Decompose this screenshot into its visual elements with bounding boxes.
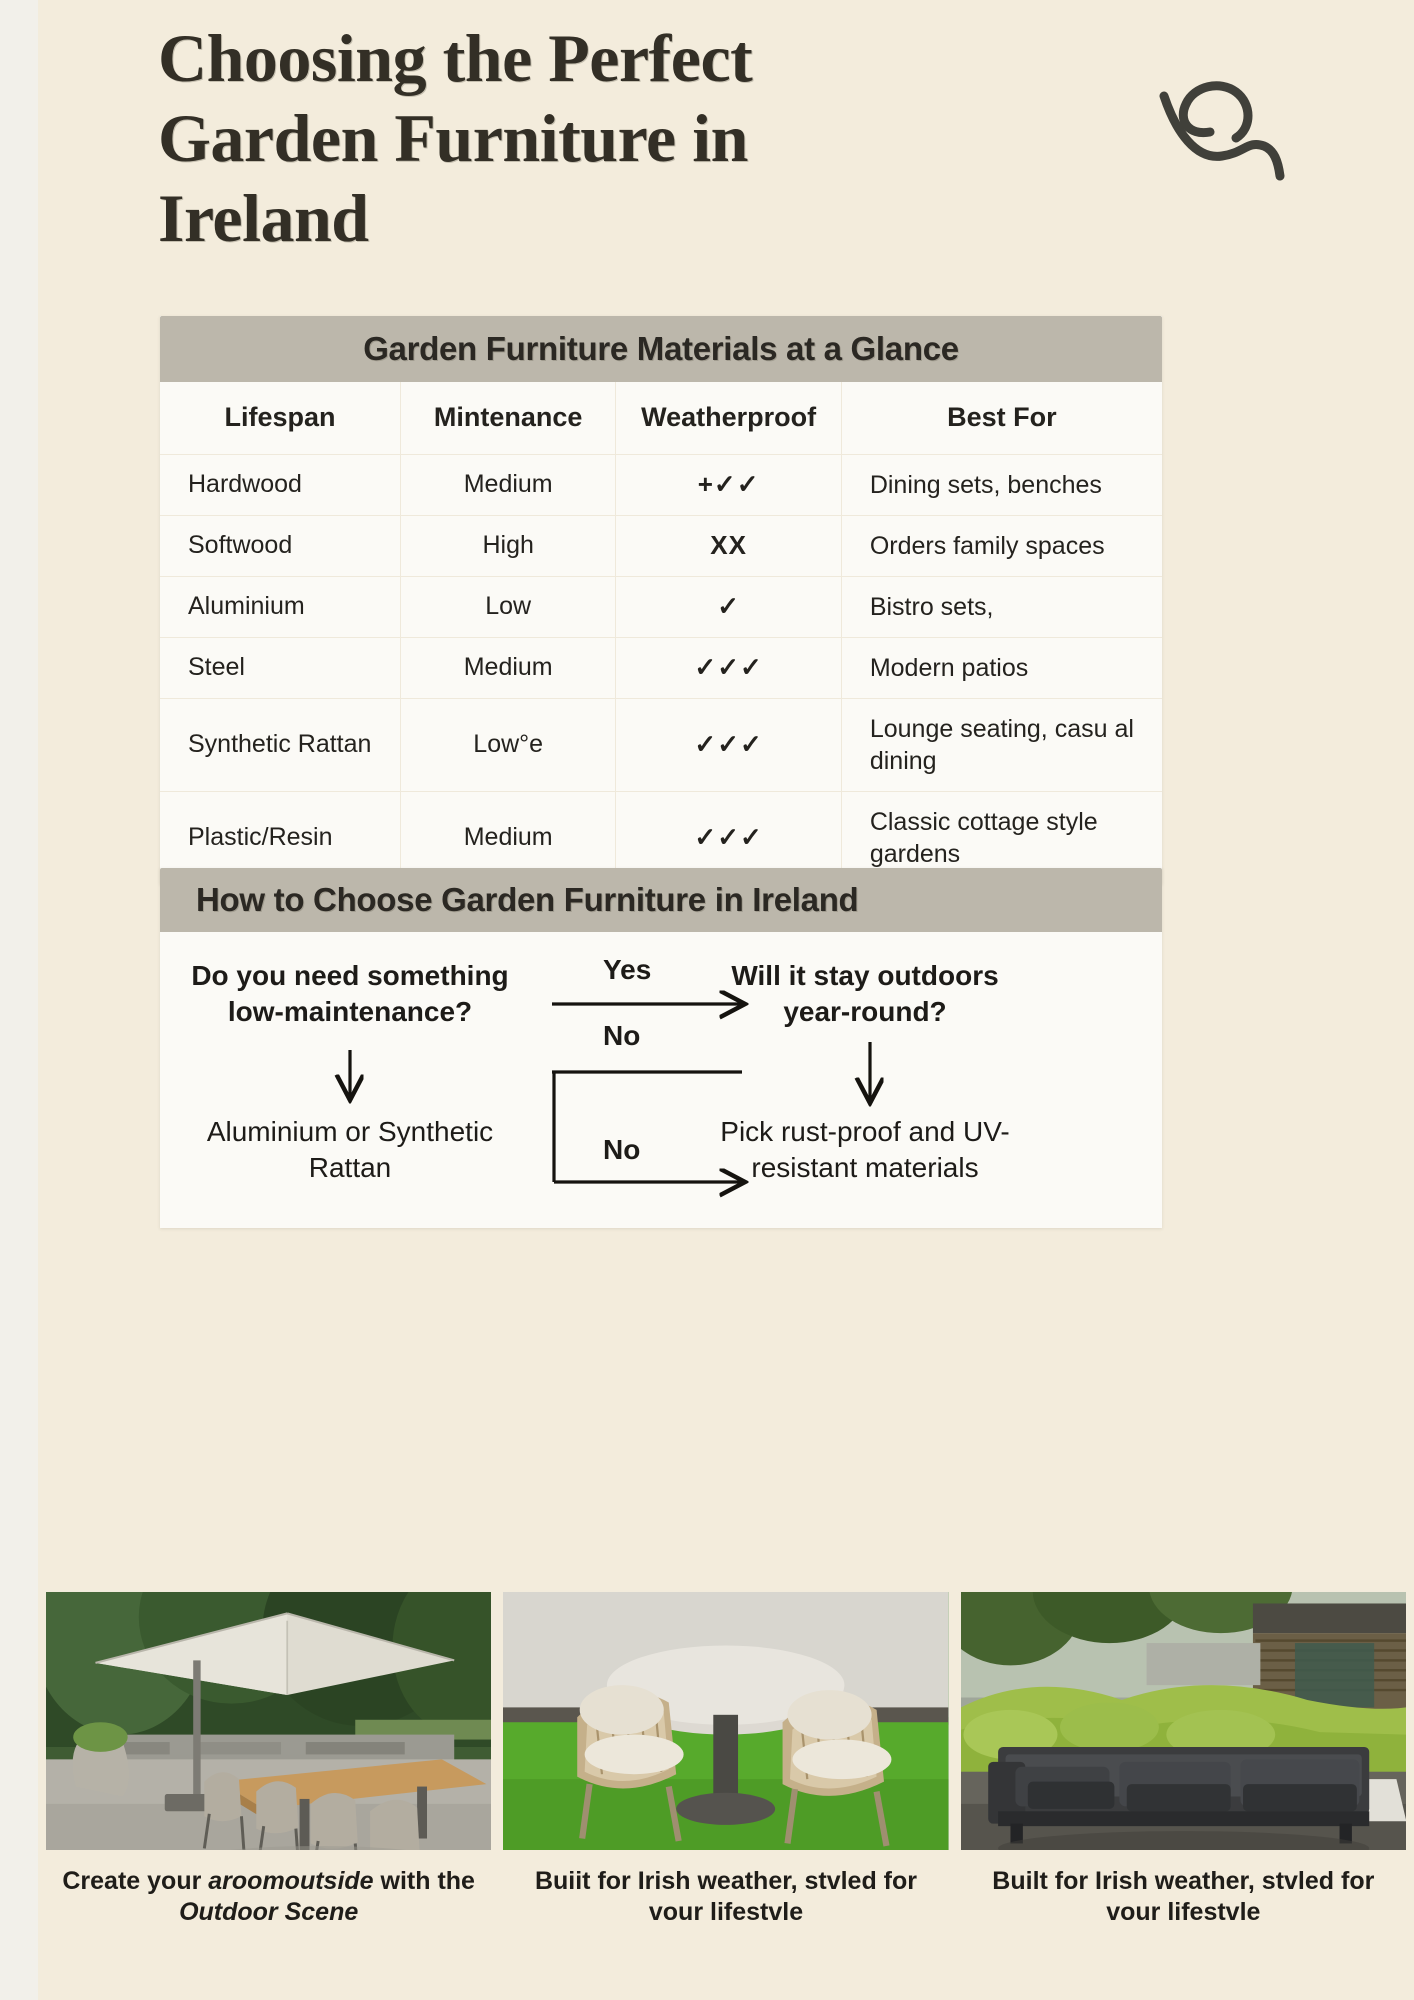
caption-em-1: aroomoutside: [208, 1867, 373, 1895]
flowchart-card: How to Choose Garden Furniture in Irelan…: [160, 868, 1162, 1228]
cell-material: Synthetic Rattan: [160, 698, 400, 791]
caption-text-2: with the: [374, 1867, 475, 1895]
flow-question-2: Will it stay outdoors year-round?: [700, 958, 1030, 1031]
caption-text-1: Create your: [62, 1867, 208, 1895]
cell-weatherproof: XX: [616, 515, 841, 576]
infographic-page: Choosing the Perfect Garden Furniture in…: [38, 0, 1414, 2000]
materials-table-heading: Garden Furniture Materials at a Glance: [160, 316, 1162, 382]
cell-maintenance: Low°e: [400, 698, 615, 791]
gallery-item: Create your aroomoutside with the Outdoo…: [46, 1592, 491, 1927]
table-row: Synthetic Rattan Low°e ✓✓✓ Lounge seatin…: [160, 698, 1162, 791]
gallery-item: Built for Irish weather, stvled for vour…: [961, 1592, 1406, 1927]
cell-weatherproof: ✓✓✓: [616, 698, 841, 791]
table-row: Steel Medium ✓✓✓ Modern patios: [160, 637, 1162, 698]
flow-outcome-2: Pick rust-proof and UV-resistant materia…: [690, 1114, 1040, 1187]
materials-table: Lifespan Mintenance Weatherproof Best Fo…: [160, 382, 1162, 884]
gallery-caption: Built for Irish weather, stvled for vour…: [961, 1866, 1406, 1927]
flowchart-body: Do you need something low-maintenance? A…: [160, 932, 1162, 1228]
header: Choosing the Perfect Garden Furniture in…: [158, 18, 1338, 259]
table-row: Hardwood Medium +✓✓ Dining sets, benches: [160, 454, 1162, 515]
page-title: Choosing the Perfect Garden Furniture in…: [158, 18, 918, 259]
photo-patio-dining-set: [46, 1592, 491, 1850]
cell-best-for: Bistro sets,: [841, 576, 1162, 637]
table-row: Softwood High XX Orders family spaces: [160, 515, 1162, 576]
cell-material: Softwood: [160, 515, 400, 576]
column-header-maintenance: Mintenance: [400, 382, 615, 454]
cell-weatherproof: ✓: [616, 576, 841, 637]
cell-weatherproof: ✓✓✓: [616, 637, 841, 698]
cell-maintenance: High: [400, 515, 615, 576]
flow-label-yes: Yes: [603, 954, 651, 986]
cell-maintenance: Medium: [400, 637, 615, 698]
cell-weatherproof: +✓✓: [616, 454, 841, 515]
flow-label-no-upper: No: [603, 1020, 640, 1052]
gallery-caption: Buiit for Irish weather, stvled for vour…: [503, 1866, 948, 1927]
flowchart-heading: How to Choose Garden Furniture in Irelan…: [160, 868, 1162, 932]
table-row: Aluminium Low ✓ Bistro sets,: [160, 576, 1162, 637]
flow-outcome-1: Aluminium or Synthetic Rattan: [190, 1114, 510, 1187]
cell-best-for: Dining sets, benches: [841, 454, 1162, 515]
swirl-circle-logo-icon: [1148, 36, 1298, 191]
column-header-weatherproof: Weatherproof: [616, 382, 841, 454]
cell-maintenance: Medium: [400, 454, 615, 515]
flow-label-no-lower: No: [603, 1134, 640, 1166]
cell-best-for: Modern patios: [841, 637, 1162, 698]
gallery-caption: Create your aroomoutside with the Outdoo…: [46, 1866, 491, 1927]
caption-em-2: Outdoor Scene: [179, 1898, 358, 1926]
cell-material: Steel: [160, 637, 400, 698]
materials-table-card: Garden Furniture Materials at a Glance L…: [160, 316, 1162, 884]
cell-best-for: Orders family spaces: [841, 515, 1162, 576]
cell-material: Hardwood: [160, 454, 400, 515]
photo-gallery: Create your aroomoutside with the Outdoo…: [38, 1592, 1414, 1927]
photo-rattan-chairs-table: [503, 1592, 948, 1850]
cell-material: Aluminium: [160, 576, 400, 637]
table-header-row: Lifespan Mintenance Weatherproof Best Fo…: [160, 382, 1162, 454]
column-header-lifespan: Lifespan: [160, 382, 400, 454]
gallery-item: Buiit for Irish weather, stvled for vour…: [503, 1592, 948, 1927]
cell-maintenance: Low: [400, 576, 615, 637]
photo-modular-outdoor-sofa: [961, 1592, 1406, 1850]
column-header-best-for: Best For: [841, 382, 1162, 454]
cell-best-for: Lounge seating, casu al dining: [841, 698, 1162, 791]
flow-question-1: Do you need something low-maintenance?: [190, 958, 510, 1031]
